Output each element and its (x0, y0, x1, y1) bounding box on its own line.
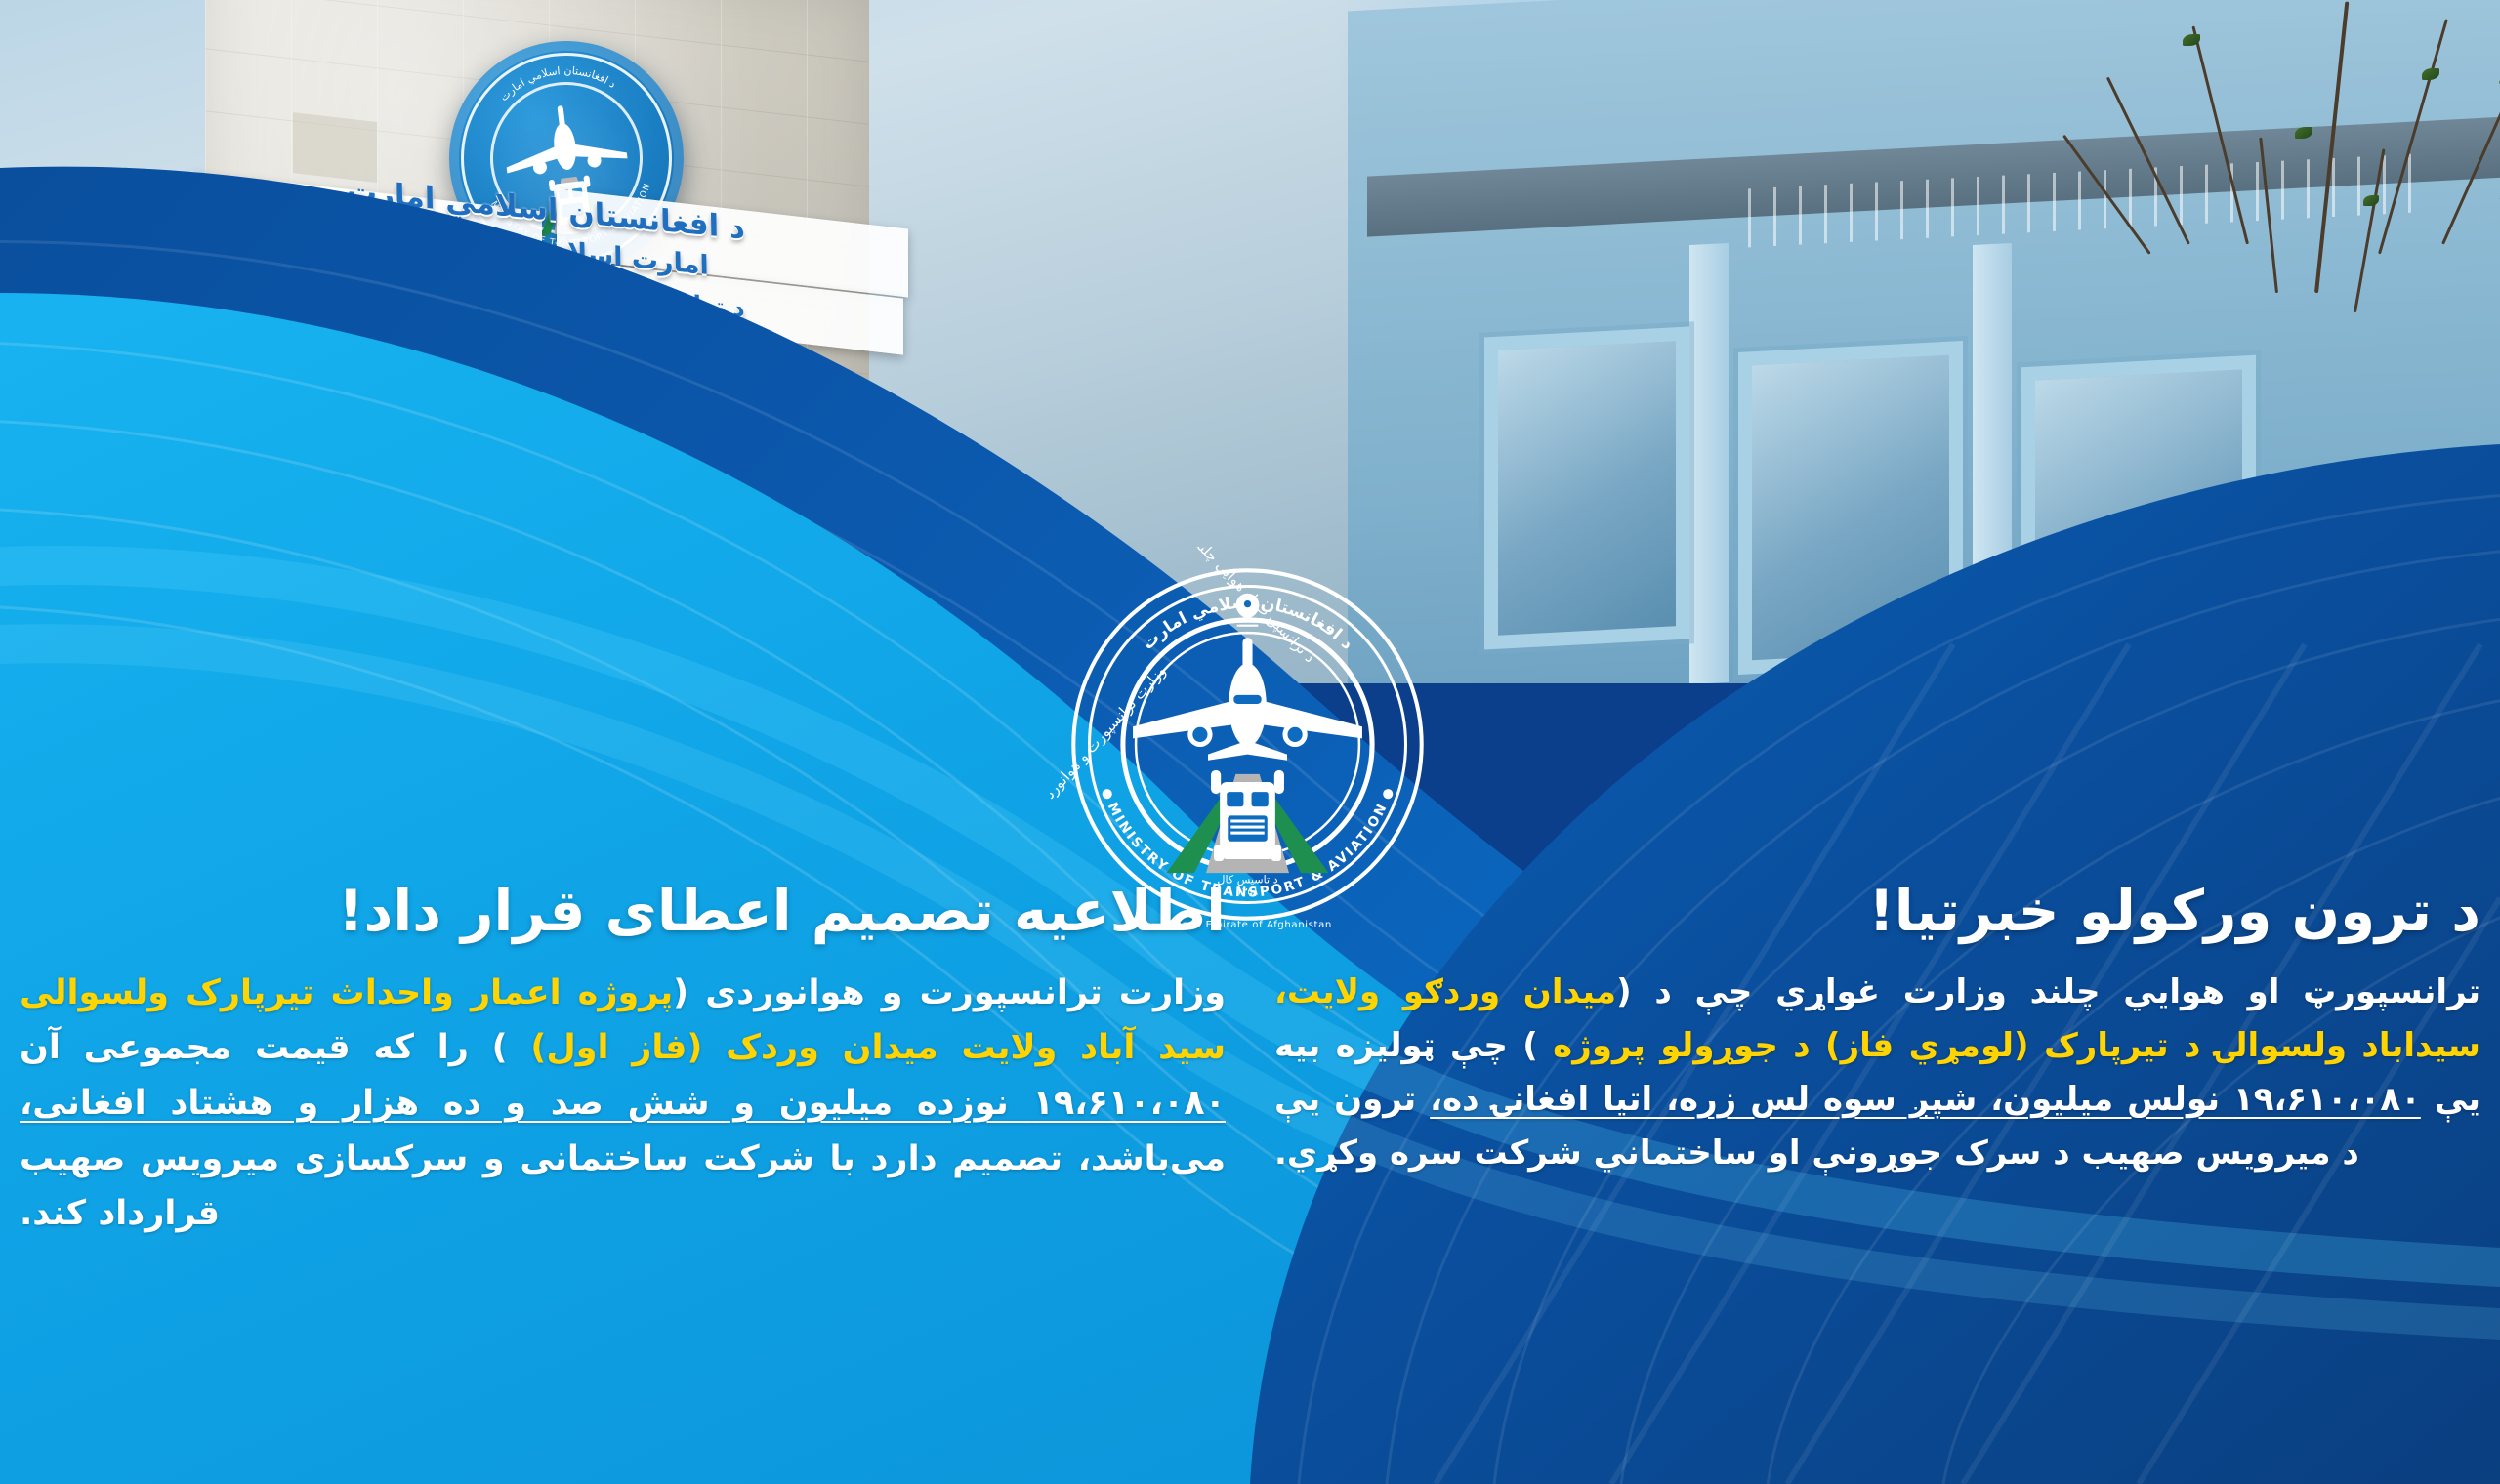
dari-headline: اطلاعیه تصمیم اعطای قرار داد! (20, 879, 1226, 944)
ministry-emblem: د افغانستان اسلامي امارت MINISTRY OF TRA… (1050, 547, 1445, 942)
dari-column: اطلاعیه تصمیم اعطای قرار داد! وزارت تران… (20, 879, 1226, 1242)
dari-body: وزارت ترانسپورت و هوانوردی (پروژه اعمار … (20, 966, 1226, 1242)
pashto-column: د ترون ورکولو خبرتیا! ترانسپورټ او هوایي… (1274, 879, 2480, 1180)
dari-body-part4: می‌باشد، تصمیم دارد با شرکت ساختمانی و س… (20, 1139, 1226, 1234)
pashto-amount: ۱۹،۶۱۰،۰۸۰ (2233, 1080, 2421, 1119)
announcement-poster: د افغانستان اسلامي امارت MINISTRY OF TRA… (0, 0, 2500, 1484)
svg-text:د تاسیس کال: د تاسیس کال (1217, 873, 1277, 886)
pashto-headline: د ترون ورکولو خبرتیا! (1274, 879, 2480, 944)
dari-amount: ۱۹،۶۱۰،۰۸۰ (1033, 1084, 1227, 1123)
dari-body-part1: وزارت ترانسپورت و هوانوردی ( (673, 973, 1226, 1012)
svg-text:۱۳۵۸: ۱۳۵۸ (1237, 886, 1259, 897)
pashto-body-part3: نولس میلیون، شپږ سوه لس زره، اتیا افغانۍ… (1430, 1080, 2233, 1119)
svg-text:Islamic Emirate of Afghanistan: Islamic Emirate of Afghanistan (1163, 920, 1332, 930)
dari-body-part3: نوزده میلیون و شش صد و ده هزار و هشتاد ا… (20, 1084, 1033, 1123)
pashto-body: ترانسپورټ او هوایي چلند وزارت غواړي چې د… (1274, 966, 2480, 1180)
pashto-body-part1: ترانسپورټ او هوایي چلند وزارت غواړي چې د… (1616, 972, 2480, 1011)
svg-text:وزارت ترانسپورت و هوانوردی: وزارت ترانسپورت و هوانوردی (1050, 662, 1170, 811)
announcement-content: اطلاعیه تصمیم اعطای قرار داد! وزارت تران… (0, 879, 2500, 1484)
dari-body-part2: ) را که قیمت مجموعی آن (20, 1028, 530, 1067)
ministry-emblem-icon: د افغانستان اسلامي امارت MINISTRY OF TRA… (1050, 547, 1445, 942)
